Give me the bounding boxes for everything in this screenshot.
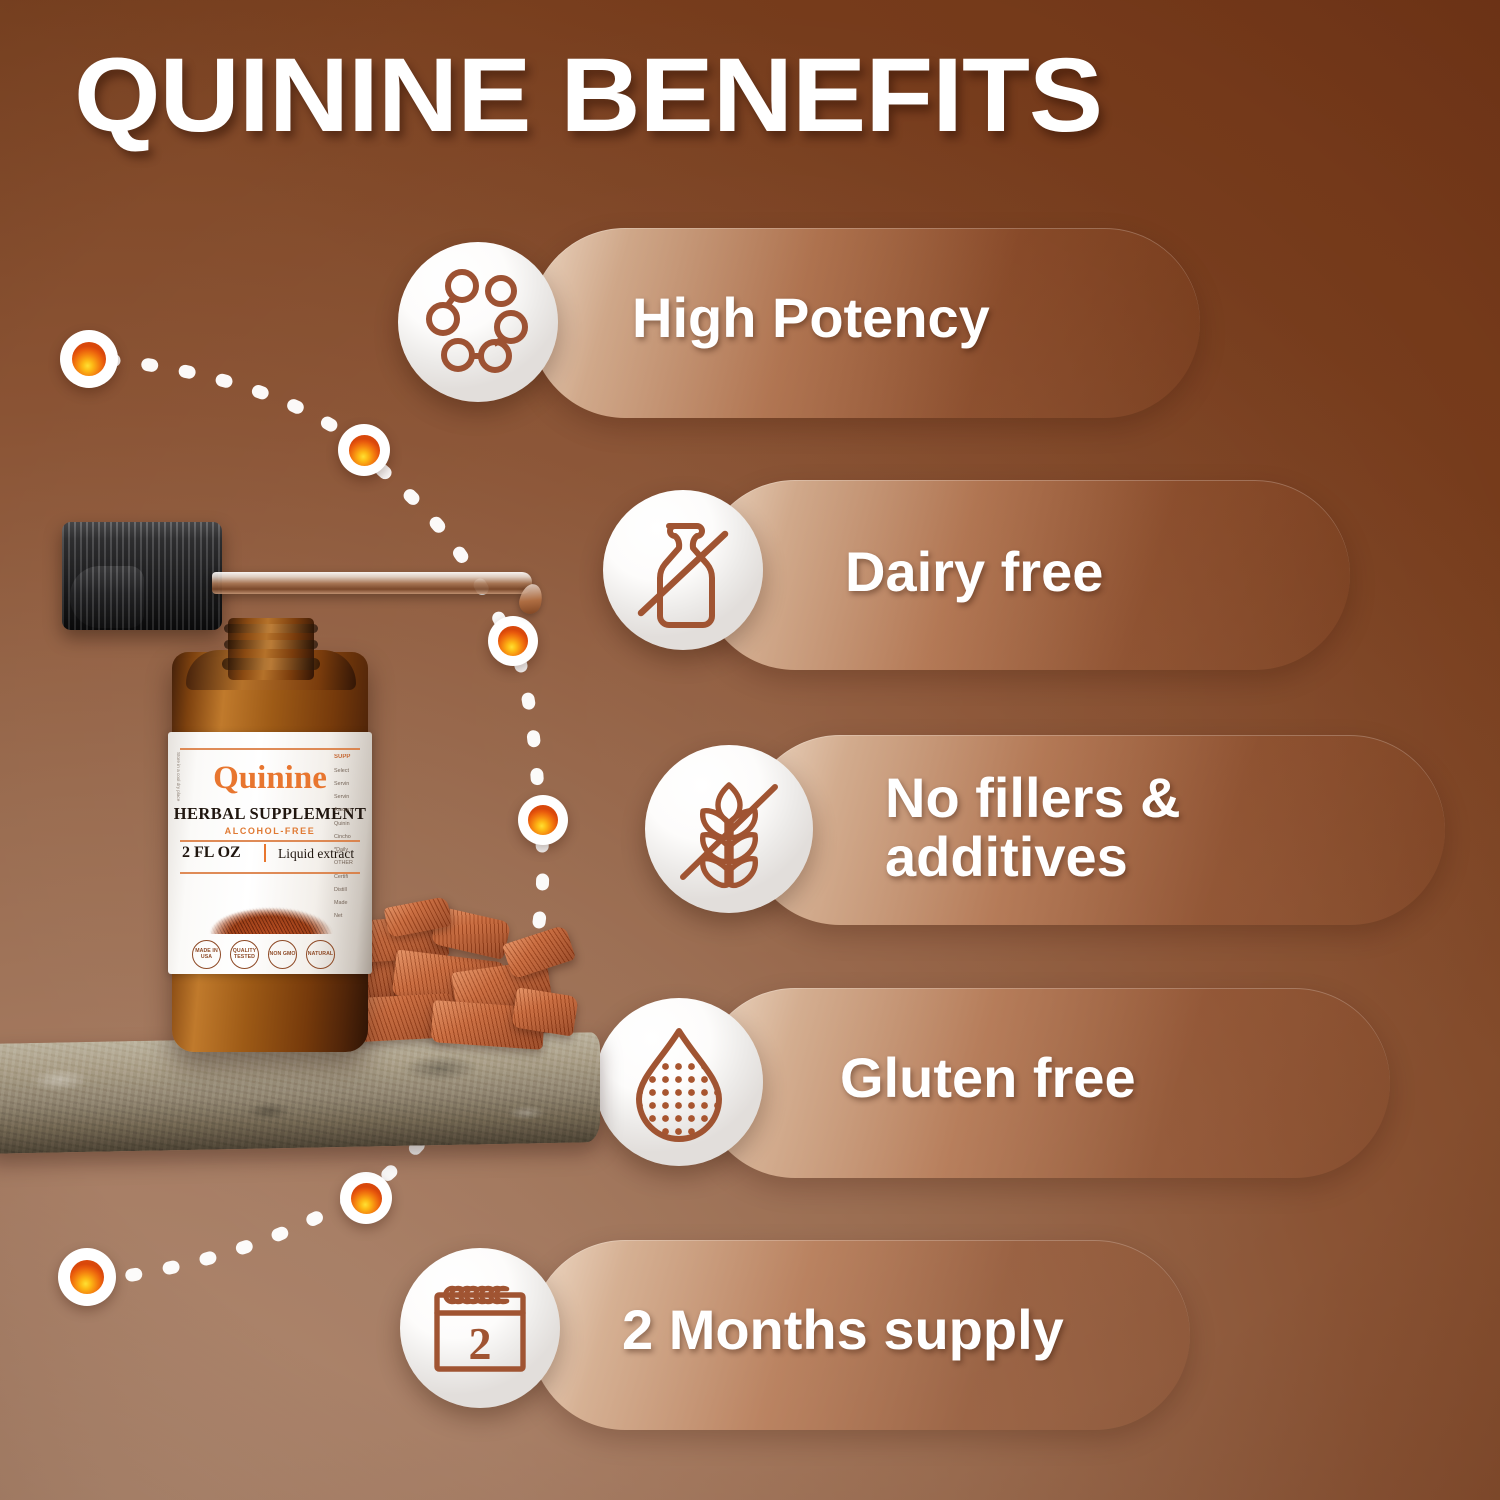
label-volume: 2 FL OZ (182, 844, 241, 862)
benefit-icon-disc-1[interactable] (398, 242, 558, 402)
path-node-6 (340, 1172, 392, 1224)
path-node-7 (58, 1248, 116, 1306)
molecule-ring-icon (422, 266, 534, 378)
path-node-1 (60, 330, 118, 388)
dropper-pipette (212, 572, 532, 594)
product-photo: Quinine HERBAL SUPPLEMENT ALCOHOL-FREE 2… (0, 500, 640, 1120)
label-badges: MADE IN USA QUALITY TESTED NON GMO NATUR… (192, 940, 335, 969)
badge-natural: NATURAL (306, 940, 335, 969)
benefit-label-4: Gluten free (840, 1048, 1136, 1107)
calendar-number: 2 (469, 1318, 492, 1369)
bottle-label: Quinine HERBAL SUPPLEMENT ALCOHOL-FREE 2… (168, 732, 372, 974)
benefit-label-1: High Potency (632, 288, 990, 347)
label-bark-powder-image (198, 882, 344, 934)
badge-quality-tested: QUALITY TESTED (230, 940, 259, 969)
benefit-label-5: 2 Months supply (622, 1300, 1064, 1359)
benefit-label-3: No fillers & additives (885, 768, 1181, 887)
badge-made-in-usa: MADE IN USA (192, 940, 221, 969)
benefit-icon-disc-5[interactable]: 2 (400, 1248, 560, 1408)
no-milk-bottle-icon (625, 512, 741, 628)
label-warning-panel: Store in a cool dry place (171, 752, 184, 801)
badge-non-gmo: NON GMO (268, 940, 297, 969)
calendar-2-icon: 2 (423, 1271, 537, 1385)
benefit-icon-disc-3[interactable] (645, 745, 813, 913)
infographic-canvas: QUININE BENEFITS High Potency Dairy free… (0, 0, 1500, 1500)
page-title: QUININE BENEFITS (74, 42, 1500, 149)
label-divider (264, 844, 266, 862)
label-supplement-facts-panel: SUPPSelectServinServinAmounQuininCincho*… (334, 750, 368, 924)
no-wheat-icon (669, 769, 789, 889)
path-node-2 (338, 424, 390, 476)
bottle-neck (228, 618, 314, 680)
dropper-bulb (70, 566, 144, 628)
benefit-label-2: Dairy free (845, 542, 1103, 601)
dropper-cap (62, 522, 222, 630)
